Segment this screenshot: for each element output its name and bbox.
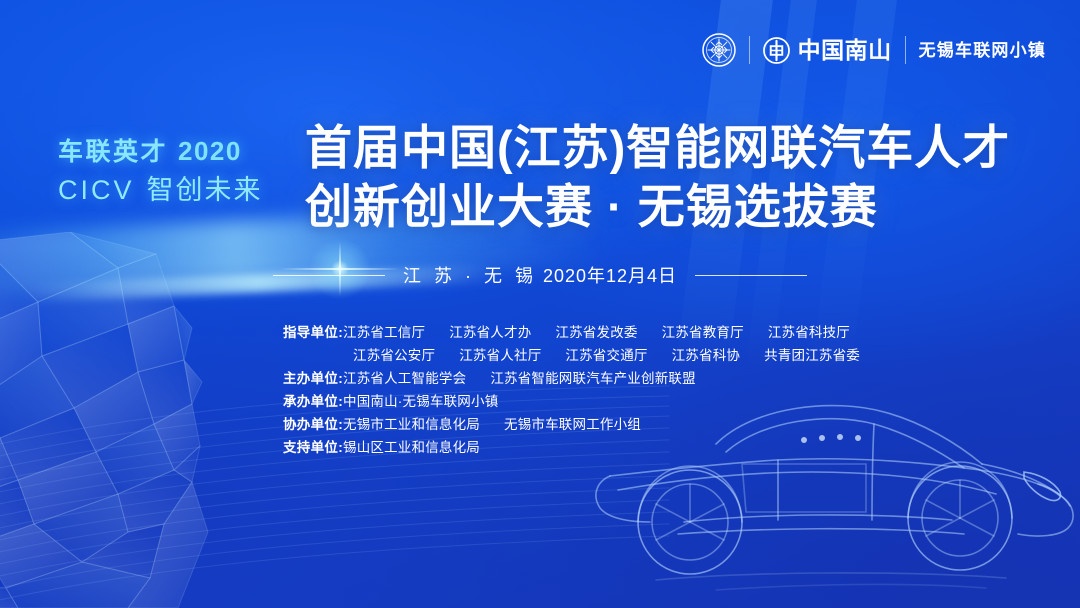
organizer-label: 协办单位:: [283, 413, 343, 436]
lockup-year-text: 2020: [178, 138, 242, 164]
subtitle-place: 江 苏 · 无 锡: [403, 266, 537, 286]
header-divider: [749, 36, 750, 64]
organizer-value: 江苏省科技厅: [768, 321, 850, 344]
nanshan-logo-group: 中国南山: [763, 37, 892, 64]
organizer-values: 江苏省人工智能学会 江苏省智能网联汽车产业创新联盟: [343, 367, 696, 390]
organizer-row: 主办单位: 江苏省人工智能学会 江苏省智能网联汽车产业创新联盟: [283, 367, 860, 390]
event-lockup: 车联英才 2020 CICV 智创未来: [58, 138, 263, 204]
lockup-cicv-text: CICV: [58, 177, 135, 204]
subtitle-text: 江 苏 · 无 锡 2020年12月4日: [385, 262, 695, 288]
lockup-slogan-text: 智创未来: [147, 177, 263, 204]
header-divider: [905, 36, 906, 64]
organizer-row: 协办单位: 无锡市工业和信息化局 无锡市车联网工作小组: [283, 413, 860, 436]
lockup-line-1: 车联英才 2020: [58, 138, 263, 165]
snowflake-emblem-icon: [702, 33, 736, 67]
organizer-value: 中国南山·无锡车联网小镇: [343, 390, 498, 413]
organizer-label: 承办单位:: [283, 390, 343, 413]
subtitle-rule-left: [273, 275, 385, 276]
organizer-values: 江苏省公安厅 江苏省人社厅 江苏省交通厅 江苏省科协 共青团江苏省委: [353, 344, 860, 367]
organizer-row: 江苏省公安厅 江苏省人社厅 江苏省交通厅 江苏省科协 共青团江苏省委: [283, 344, 860, 367]
organizer-row: 指导单位: 江苏省工信厅 江苏省人才办 江苏省发改委 江苏省教育厅 江苏省科技厅: [283, 321, 860, 344]
organizer-value: 江苏省工信厅: [343, 321, 425, 344]
organizer-value: 共青团江苏省委: [764, 344, 860, 367]
organizer-label: 支持单位:: [283, 436, 343, 459]
organizer-value: 江苏省教育厅: [662, 321, 744, 344]
organizer-values: 江苏省工信厅 江苏省人才办 江苏省发改委 江苏省教育厅 江苏省科技厅: [343, 321, 850, 344]
organizer-value: 江苏省人工智能学会: [343, 367, 466, 390]
main-title: 首届中国(江苏)智能网联汽车人才 创新创业大赛 · 无锡选拔赛: [305, 118, 1010, 236]
organizer-value: 锡山区工业和信息化局: [343, 436, 480, 459]
organizer-value: 江苏省科协: [672, 344, 741, 367]
title-line-2: 创新创业大赛 · 无锡选拔赛: [305, 177, 1010, 236]
nanshan-name: 中国南山: [798, 39, 892, 62]
lockup-cn-text: 车联英才: [58, 140, 168, 165]
organizer-value: 江苏省交通厅: [565, 344, 647, 367]
organizer-row: 支持单位: 锡山区工业和信息化局: [283, 436, 860, 459]
title-line-1: 首届中国(江苏)智能网联汽车人才: [305, 118, 1010, 177]
subtitle-rule-right: [695, 275, 807, 276]
organizer-value: 江苏省人社厅: [459, 344, 541, 367]
organizer-value: 无锡市车联网工作小组: [504, 413, 641, 436]
organizer-label: 指导单位:: [283, 321, 343, 344]
organizer-value: 江苏省公安厅: [353, 344, 435, 367]
organizer-value: 江苏省人才办: [449, 321, 531, 344]
organizer-value: 江苏省智能网联汽车产业创新联盟: [490, 367, 696, 390]
organizer-value: 江苏省发改委: [555, 321, 637, 344]
organizer-row: 承办单位: 中国南山·无锡车联网小镇: [283, 390, 860, 413]
header-logo-bar: 中国南山 无锡车联网小镇: [702, 33, 1046, 67]
nanshan-logo-icon: [763, 37, 790, 64]
organizer-values: 无锡市工业和信息化局 无锡市车联网工作小组: [343, 413, 641, 436]
organizer-value: 无锡市工业和信息化局: [343, 413, 480, 436]
town-name: 无锡车联网小镇: [919, 42, 1046, 59]
lockup-line-2: CICV 智创未来: [58, 177, 263, 204]
organizer-label: 主办单位:: [283, 367, 343, 390]
organizer-values: 锡山区工业和信息化局: [343, 436, 480, 459]
subtitle-date: 2020年12月4日: [543, 266, 677, 286]
organizer-values: 中国南山·无锡车联网小镇: [343, 390, 498, 413]
subtitle-row: 江 苏 · 无 锡 2020年12月4日: [0, 262, 1080, 288]
organizer-list: 指导单位: 江苏省工信厅 江苏省人才办 江苏省发改委 江苏省教育厅 江苏省科技厅…: [283, 321, 860, 459]
poster-canvas: 中国南山 无锡车联网小镇 车联英才 2020 CICV 智创未来 首届中国(江苏…: [0, 0, 1080, 608]
